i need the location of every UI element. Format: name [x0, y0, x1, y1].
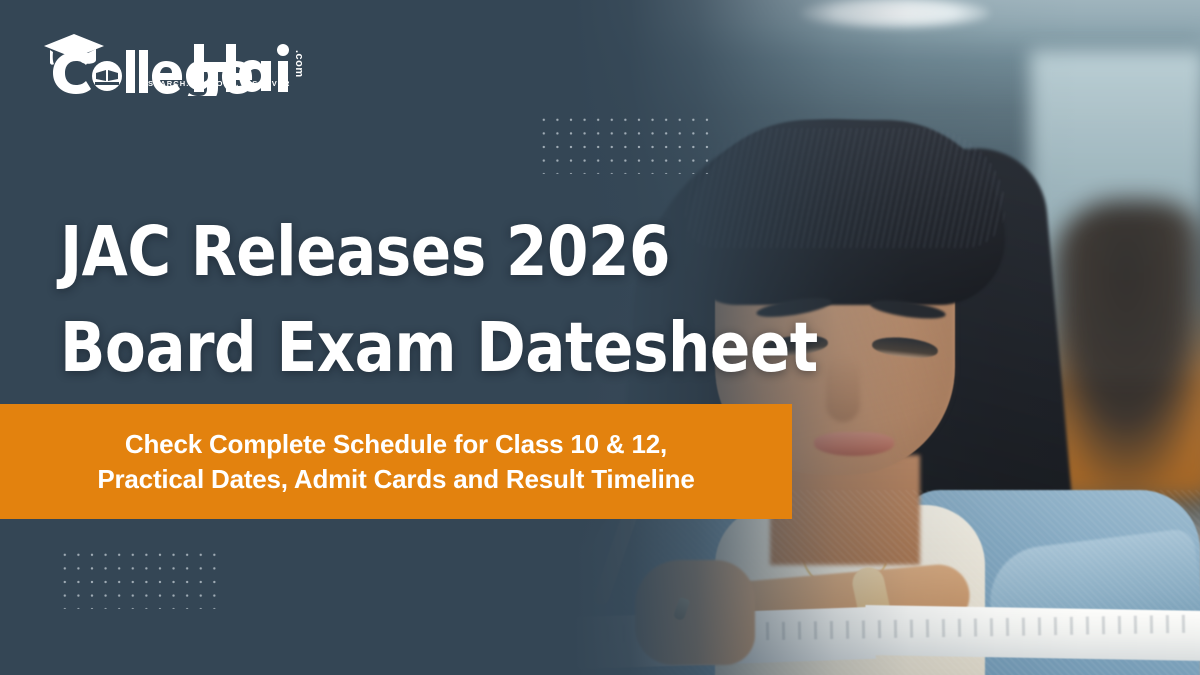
dot-pattern-bottom [58, 548, 223, 609]
promo-banner: .com SEARCH. EXPLORE. DISCOVER JAC Relea… [0, 0, 1200, 675]
domain-suffix: .com [293, 50, 305, 78]
subtitle-band: Check Complete Schedule for Class 10 & 1… [0, 404, 792, 519]
headline-line-1: JAC Releases 2026 [60, 204, 732, 300]
page-title: JAC Releases 2026 Board Exam Datesheet [60, 204, 732, 396]
subtitle-line-1: Check Complete Schedule for Class 10 & 1… [125, 427, 667, 462]
logo-tagline: SEARCH. EXPLORE. DISCOVER [148, 79, 291, 88]
subtitle-line-2: Practical Dates, Admit Cards and Result … [97, 462, 694, 497]
open-book-icon [92, 61, 122, 91]
collegehai-logo[interactable]: .com SEARCH. EXPLORE. DISCOVER [40, 30, 275, 96]
headline-line-2: Board Exam Datesheet [60, 300, 732, 396]
svg-text:.com: .com [293, 50, 305, 78]
dot-pattern-top [537, 113, 715, 174]
